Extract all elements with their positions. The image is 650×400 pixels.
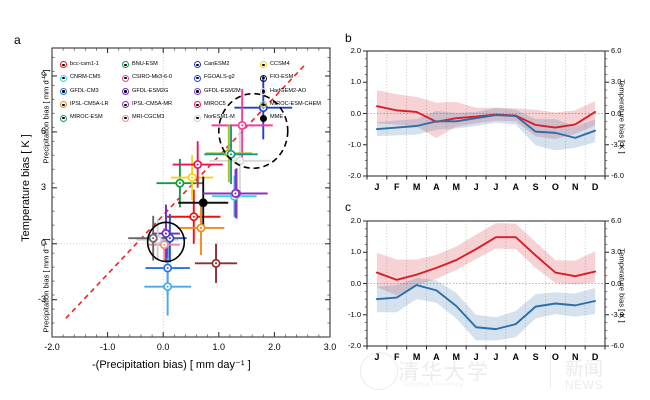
legend-item-bcc-csm1-1: bcc-csm1-1 xyxy=(60,58,122,71)
panel-b-ytick-label-right: -3.0 xyxy=(611,140,624,149)
panel-a-point-center xyxy=(167,286,169,288)
legend-marker-icon xyxy=(60,101,67,108)
panel-a-point-center xyxy=(200,227,202,229)
legend-marker-icon xyxy=(122,75,129,82)
legend-item-label: bcc-csm1-1 xyxy=(70,62,99,68)
panel-c-ytick-label-left: 1.0 xyxy=(351,247,361,256)
panel-a-ytick-label: 3 xyxy=(41,182,46,192)
panel-c-ytick-label-left: 0.0 xyxy=(351,279,361,288)
panel-a-point-center xyxy=(230,153,232,155)
legend-marker-icon xyxy=(60,115,67,122)
panel-b-month-label-N-10: N xyxy=(572,182,579,192)
panel-b-ytick-label-left: -2.0 xyxy=(348,171,361,180)
panel-b-month-label-J-5: J xyxy=(474,182,479,192)
panel-c-month-label-N-10: N xyxy=(572,352,579,362)
legend-item-mme: MME xyxy=(260,112,322,125)
legend-marker-icon xyxy=(60,88,67,95)
panel-a-point-center xyxy=(152,237,154,239)
panel-a-ytick-label: 0 xyxy=(41,238,46,248)
legend-marker-icon xyxy=(60,61,67,68)
legend-item-label: HadGEM2-AO xyxy=(270,89,306,95)
legend-item-label: CCSM4 xyxy=(270,62,290,68)
panel-a-letter: a xyxy=(14,33,21,47)
panel-a-point-center xyxy=(215,262,217,264)
legend-item-bnu-esm: BNU-ESM xyxy=(122,58,194,71)
legend-item-noresm1-m: NorESM1-M xyxy=(194,112,260,125)
legend-item-label: FIO-ESM xyxy=(270,75,293,81)
legend-item-label: GFDL-CM3 xyxy=(70,89,99,95)
panel-a-point-center xyxy=(191,177,193,179)
panel-b-month-label-M-2: M xyxy=(413,182,421,192)
panel-a-point-center xyxy=(169,237,171,239)
legend-item-gfdl-esm2g: GFDL-ESM2G xyxy=(122,85,194,98)
legend-marker-icon xyxy=(260,75,267,82)
panel-a-xtick-label: 1.0 xyxy=(213,342,226,352)
panel-b-month-label-A-7: A xyxy=(513,182,520,192)
legend-item-hadgem2-ao: HadGEM2-AO xyxy=(260,85,322,98)
panel-b-month-label-A-3: A xyxy=(433,182,440,192)
legend-marker-icon xyxy=(194,61,201,68)
panel-c-month-label-S-8: S xyxy=(533,352,539,362)
panel-a-point-center xyxy=(167,267,169,269)
legend-item-miroc-esm-chem: MIROC-ESM-CHEM xyxy=(260,98,322,111)
figure-root: a b c Temperature bias [ K ] -(Precipita… xyxy=(0,0,650,400)
legend-item-label: FGOALS-g2 xyxy=(204,75,235,81)
panel-b-ytick-label-left: 1.0 xyxy=(351,77,361,86)
panel-a-point-center xyxy=(163,244,165,246)
panel-a-point-center xyxy=(197,163,199,165)
panel-b-month-label-O-9: O xyxy=(552,182,559,192)
panel-a-xtick-label: -1.0 xyxy=(100,342,116,352)
panel-a-y-axis-title: Temperature bias [ K ] xyxy=(20,118,32,258)
panel-b-ytick-label-right: 0.0 xyxy=(611,109,621,118)
panel-a-xtick-label: -2.0 xyxy=(44,342,60,352)
legend-item-label: MRI-CGCM3 xyxy=(132,115,164,121)
panel-c-month-label-A-3: A xyxy=(433,352,440,362)
legend-item-gfdl-esm2m: GFDL-ESM2M xyxy=(194,85,260,98)
panel-a-ytick-label: 9 xyxy=(41,70,46,80)
legend-marker-icon xyxy=(260,88,267,95)
panel-c-ytick-label-left: -2.0 xyxy=(348,341,361,350)
panel-a-xtick-label: 3.0 xyxy=(324,342,337,352)
panel-c-month-label-A-7: A xyxy=(513,352,520,362)
legend-item-ipsl-cm5a-lr: IPSL-CM5A-LR xyxy=(60,98,122,111)
legend-marker-icon xyxy=(260,61,267,68)
legend-marker-icon xyxy=(194,88,201,95)
panel-b-letter: b xyxy=(345,31,352,45)
panel-b-ytick-label-left: -1.0 xyxy=(348,140,361,149)
legend-marker-icon xyxy=(260,115,267,122)
legend-marker-icon xyxy=(260,101,267,108)
legend-marker-icon xyxy=(122,88,129,95)
legend-item-mri-cgcm3: MRI-CGCM3 xyxy=(122,112,194,125)
panel-c-month-label-J-6: J xyxy=(493,352,498,362)
legend-item-cnrm-cm5: CNRM-CM5 xyxy=(60,71,122,84)
legend-item-gfdl-cm3: GFDL-CM3 xyxy=(60,85,122,98)
panel-b-month-label-S-8: S xyxy=(533,182,539,192)
panel-c-ytick-label-right: 3.0 xyxy=(611,247,621,256)
panel-b-month-label-J-6: J xyxy=(493,182,498,192)
legend-item-label: MIROC5 xyxy=(204,102,226,108)
panel-b-month-label-J-0: J xyxy=(374,182,379,192)
panel-c-ytick-label-right: -6.0 xyxy=(611,341,624,350)
panel-c-ytick-label-right: 0.0 xyxy=(611,279,621,288)
legend-item-label: CanESM2 xyxy=(204,62,230,68)
panel-c-month-label-F-1: F xyxy=(394,352,400,362)
legend-item-label: GFDL-ESM2G xyxy=(132,89,168,95)
legend-item-label: NorESM1-M xyxy=(204,115,235,121)
legend-marker-icon xyxy=(122,61,129,68)
panel-c-ytick-label-left: 2.0 xyxy=(351,216,361,225)
panel-b-ytick-label-right: -6.0 xyxy=(611,171,624,180)
panel-b-month-label-F-1: F xyxy=(394,182,400,192)
legend-item-fio-esm: FIO-ESM xyxy=(260,71,322,84)
panel-b-ytick-label-right: 6.0 xyxy=(611,46,621,55)
panel-c-month-label-O-9: O xyxy=(552,352,559,362)
panel-a-ytick-label: 6 xyxy=(41,126,46,136)
legend-marker-icon xyxy=(194,115,201,122)
legend-item-label: BNU-ESM xyxy=(132,62,158,68)
legend-item-label: IPSL-CM5A-MR xyxy=(132,102,172,108)
legend-marker-icon xyxy=(122,115,129,122)
model-legend: bcc-csm1-1BNU-ESMCanESM2CCSM4CNRM-CM5CSI… xyxy=(60,58,322,125)
panel-c-ytick-label-right: -3.0 xyxy=(611,310,624,319)
legend-item-label: IPSL-CM5A-LR xyxy=(70,102,109,108)
panel-b-ytick-label-right: 3.0 xyxy=(611,77,621,86)
panel-a-point-center xyxy=(234,192,236,194)
panel-b-month-label-M-4: M xyxy=(453,182,461,192)
legend-item-label: GFDL-ESM2M xyxy=(204,89,241,95)
legend-item-canesm2: CanESM2 xyxy=(194,58,260,71)
legend-item-fgoals-g2: FGOALS-g2 xyxy=(194,71,260,84)
legend-item-csiro-mk3-6-0: CSIRO-Mk3-6-0 xyxy=(122,71,194,84)
legend-item-label: MIROC-ESM xyxy=(70,115,103,121)
legend-marker-icon xyxy=(60,75,67,82)
panel-c-month-label-M-2: M xyxy=(413,352,421,362)
panel-c-ytick-label-right: 6.0 xyxy=(611,216,621,225)
panel-a-ytick-label: -3 xyxy=(38,294,46,304)
legend-marker-icon xyxy=(122,101,129,108)
panel-a-xtick-label: 2.0 xyxy=(268,342,281,352)
panel-b-month-label-D-11: D xyxy=(592,182,599,192)
panel-c-month-label-J-0: J xyxy=(374,352,379,362)
panel-b-ytick-label-left: 0.0 xyxy=(351,109,361,118)
panel-c-month-label-D-11: D xyxy=(592,352,599,362)
legend-item-label: CNRM-CM5 xyxy=(70,75,100,81)
legend-item-miroc5: MIROC5 xyxy=(194,98,260,111)
panel-a-point-mme xyxy=(200,199,207,206)
legend-item-label: CSIRO-Mk3-6-0 xyxy=(132,75,172,81)
panel-a-point-center xyxy=(239,160,241,162)
legend-item-label: MME xyxy=(270,115,283,121)
panel-a-xtick-label: 0.0 xyxy=(157,342,170,352)
panel-a-x-axis-title: -(Precipitation bias) [ mm day⁻¹ ] xyxy=(92,358,251,371)
panel-a-point-center xyxy=(193,216,195,218)
legend-marker-icon xyxy=(194,101,201,108)
legend-item-miroc-esm: MIROC-ESM xyxy=(60,112,122,125)
panel-c-month-label-M-4: M xyxy=(453,352,461,362)
panel-c-letter: c xyxy=(345,200,351,214)
panel-a-point-center xyxy=(165,232,167,234)
legend-item-ipsl-cm5a-mr: IPSL-CM5A-MR xyxy=(122,98,194,111)
panel-b-ytick-label-left: 2.0 xyxy=(351,46,361,55)
panel-a-point-center xyxy=(179,182,181,184)
legend-item-ccsm4: CCSM4 xyxy=(260,58,322,71)
panel-c-month-label-J-5: J xyxy=(474,352,479,362)
legend-item-label: MIROC-ESM-CHEM xyxy=(270,102,321,108)
legend-marker-icon xyxy=(194,75,201,82)
panel-c-ytick-label-left: -1.0 xyxy=(348,310,361,319)
